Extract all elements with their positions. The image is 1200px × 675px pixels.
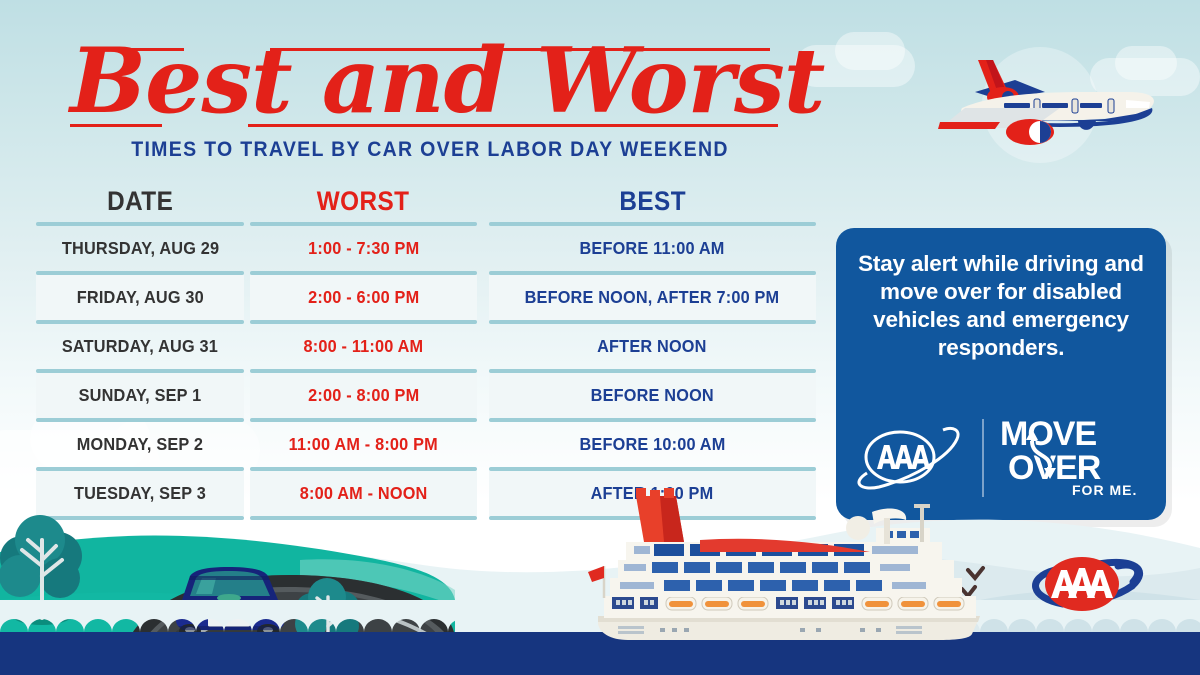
move-over-for-me-logo: MOVE OVER FOR ME. xyxy=(998,413,1150,504)
table-row: MONDAY, SEP 2 11:00 AM - 8:00 PM BEFORE … xyxy=(36,422,816,467)
logo-divider xyxy=(982,419,984,497)
cell-best: BEFORE NOON, AFTER 7:00 PM xyxy=(525,287,780,308)
cell-best: BEFORE 11:00 AM xyxy=(580,238,725,259)
cloud-icon xyxy=(835,32,905,70)
move-over-line3-text: FOR ME. xyxy=(1072,482,1137,498)
column-header-worst: WORST xyxy=(262,186,466,217)
page-title: Best and Worst xyxy=(70,22,790,140)
table-row: FRIDAY, AUG 30 2:00 - 6:00 PM BEFORE NOO… xyxy=(36,275,816,320)
table-row: SATURDAY, AUG 31 8:00 - 11:00 AM AFTER N… xyxy=(36,324,816,369)
cell-best: AFTER 1:00 PM xyxy=(591,483,714,504)
cell-worst: 11:00 AM - 8:00 PM xyxy=(289,434,438,455)
table-header-row: DATE WORST BEST xyxy=(36,180,816,222)
cell-date: MONDAY, SEP 2 xyxy=(77,434,203,455)
travel-times-table: DATE WORST BEST THURSDAY, AUG 29 1:00 - … xyxy=(36,180,816,520)
cell-date: FRIDAY, AUG 30 xyxy=(77,287,204,308)
table-row: THURSDAY, AUG 29 1:00 - 7:30 PM BEFORE 1… xyxy=(36,226,816,271)
column-header-best: BEST xyxy=(505,186,800,217)
infographic-canvas: Best and Worst TIMES TO TRAVEL BY CAR OV… xyxy=(0,0,1200,675)
road xyxy=(120,575,455,675)
table-row: SUNDAY, SEP 1 2:00 - 8:00 PM BEFORE NOON xyxy=(36,373,816,418)
table-divider xyxy=(36,516,816,520)
cell-date: SUNDAY, SEP 1 xyxy=(79,385,202,406)
cloud-icon xyxy=(1115,46,1177,80)
car-icon xyxy=(176,567,284,640)
bird-icon xyxy=(944,568,983,596)
cell-date: THURSDAY, AUG 29 xyxy=(62,238,219,259)
cell-worst: 1:00 - 7:30 PM xyxy=(308,238,419,259)
tree-icon xyxy=(295,578,360,663)
safety-message-card: Stay alert while driving and move over f… xyxy=(836,228,1166,520)
cell-worst: 8:00 - 11:00 AM xyxy=(304,336,424,357)
cell-date: TUESDAY, SEP 3 xyxy=(74,483,206,504)
table-row: TUESDAY, SEP 3 8:00 AM - NOON AFTER 1:00… xyxy=(36,471,816,516)
move-over-line1-text: MOVE xyxy=(1000,415,1096,453)
card-logo-row: MOVE OVER FOR ME. xyxy=(836,412,1166,504)
safety-message-text: Stay alert while driving and move over f… xyxy=(854,250,1148,362)
column-header-date: DATE xyxy=(46,186,234,217)
cell-worst: 8:00 AM - NOON xyxy=(300,483,428,504)
headline-group: Best and Worst xyxy=(70,26,790,136)
cell-worst: 2:00 - 6:00 PM xyxy=(308,287,419,308)
water xyxy=(0,600,1200,675)
aaa-logo-icon xyxy=(850,421,968,495)
aaa-logo-icon xyxy=(1036,557,1140,611)
cell-best: BEFORE NOON xyxy=(591,385,714,406)
page-subtitle: TIMES TO TRAVEL BY CAR OVER LABOR DAY WE… xyxy=(95,138,765,162)
cell-best: BEFORE 10:00 AM xyxy=(579,434,725,455)
cell-best: AFTER NOON xyxy=(598,336,707,357)
cell-worst: 2:00 - 8:00 PM xyxy=(308,385,419,406)
cell-date: SATURDAY, AUG 31 xyxy=(62,336,218,357)
